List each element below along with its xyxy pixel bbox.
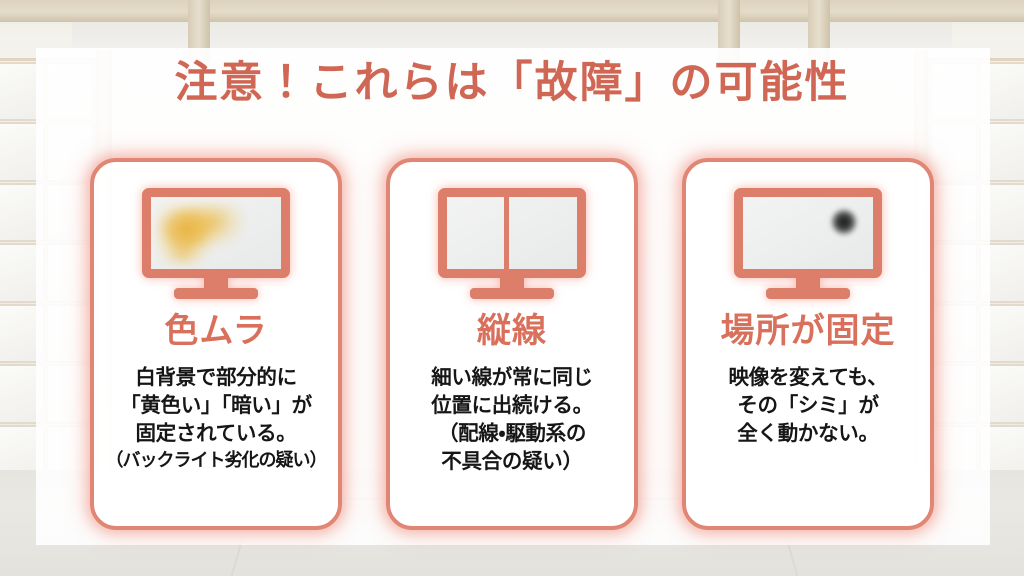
card-body-line: 映像を変えても、 [729, 364, 888, 392]
card-body: 映像を変えても、 その「シミ」が 全く動かない。 [723, 364, 894, 448]
tv-stand-base [174, 288, 258, 299]
yellow-blotch-overlay [155, 203, 247, 265]
card-body-line: （配線・駆動系の [431, 420, 593, 448]
tv-screen [743, 197, 873, 269]
tv-body [438, 188, 586, 278]
tv-body [142, 188, 290, 278]
card-body-note: （バックライト劣化の疑い） [106, 448, 327, 472]
dark-spot-overlay [831, 209, 857, 235]
card-body-line: 不具合の疑い） [431, 448, 593, 476]
tv-body [734, 188, 882, 278]
card-fixed-location[interactable]: 場所が固定 映像を変えても、 その「シミ」が 全く動かない。 [682, 158, 934, 530]
tv-yellow-blotch-icon [142, 188, 290, 300]
card-body: 細い線が常に同じ 位置に出続ける。 （配線・駆動系の 不具合の疑い） [425, 364, 599, 476]
tv-stand-base [766, 288, 850, 299]
card-vertical-line[interactable]: 縦線 細い線が常に同じ 位置に出続ける。 （配線・駆動系の 不具合の疑い） [386, 158, 638, 530]
card-body-line: 全く動かない。 [729, 420, 888, 448]
card-body-line: 細い線が常に同じ [431, 364, 593, 392]
card-body-line: その「シミ」が [729, 392, 888, 420]
tv-screen [447, 197, 577, 269]
tv-dark-spot-icon [734, 188, 882, 300]
card-body-line: 固定されている。 [106, 420, 327, 448]
tv-vertical-line-icon [438, 188, 586, 300]
slide-stage: 注意！これらは「故障」の可能性 色ムラ 白背景で部分的に 「黄色い」「暗い」が … [0, 0, 1024, 576]
card-color-unevenness[interactable]: 色ムラ 白背景で部分的に 「黄色い」「暗い」が 固定されている。 （バックライト… [90, 158, 342, 530]
tv-stand-base [470, 288, 554, 299]
tv-screen [151, 197, 281, 269]
card-body-line: 「黄色い」「暗い」が [106, 392, 327, 420]
vertical-line-overlay [504, 197, 509, 269]
card-row: 色ムラ 白背景で部分的に 「黄色い」「暗い」が 固定されている。 （バックライト… [90, 158, 934, 530]
card-heading: 縦線 [477, 314, 547, 348]
card-body-line: 位置に出続ける。 [431, 392, 593, 420]
card-heading: 色ムラ [164, 314, 267, 348]
card-body-line: 白背景で部分的に [106, 364, 327, 392]
card-heading: 場所が固定 [721, 314, 896, 348]
card-body: 白背景で部分的に 「黄色い」「暗い」が 固定されている。 （バックライト劣化の疑… [100, 364, 333, 472]
ceiling-beam [0, 0, 1024, 22]
page-title: 注意！これらは「故障」の可能性 [0, 62, 1024, 105]
